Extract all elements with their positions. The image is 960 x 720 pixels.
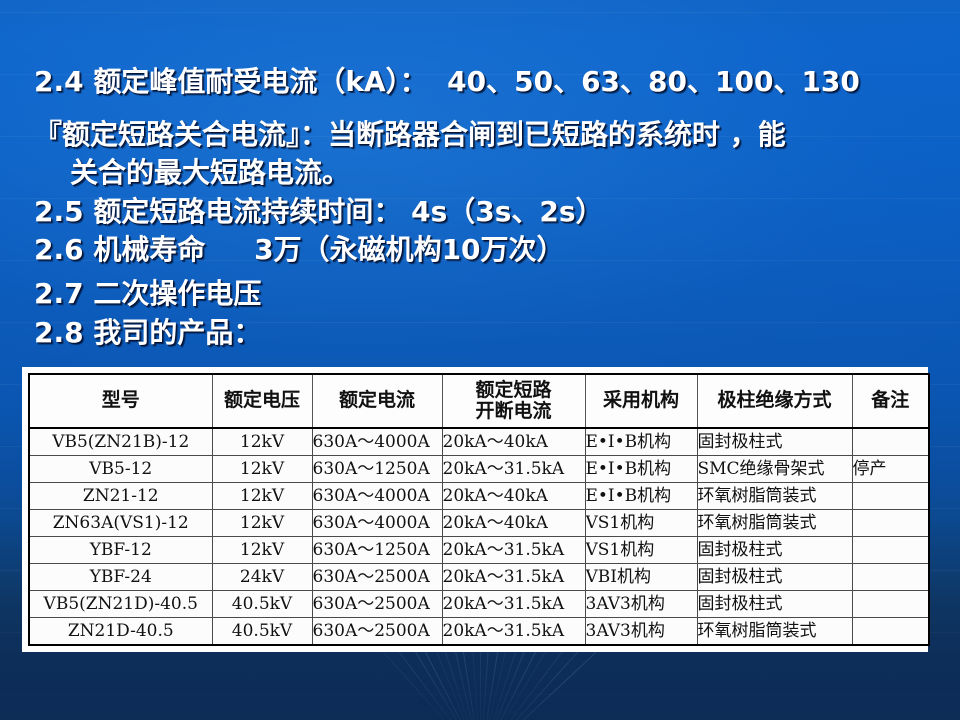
cell-mechanism: VS1机构 (585, 537, 697, 564)
cell-remark (852, 510, 929, 537)
cell-remark (852, 537, 929, 564)
cell-breaking-current: 20kA～31.5kA (442, 618, 585, 646)
column-header-rated-current: 额定电流 (312, 374, 442, 428)
cell-pole-insulation: 环氧树脂筒装式 (697, 618, 852, 646)
table-header-row: 型号 额定电压 额定电流 额定短路开断电流 采用机构 极柱绝缘方式 备注 (29, 374, 929, 428)
cell-breaking-current: 20kA～40kA (442, 483, 585, 510)
cell-remark (852, 618, 929, 646)
bullet-mechanical-life: 2.6 机械寿命 3万（永磁机构10万次） (34, 228, 565, 268)
cell-pole-insulation: 固封极柱式 (697, 591, 852, 618)
cell-rated-voltage: 40.5kV (212, 591, 312, 618)
note-rated-short-circuit-making-current-line1: 『额定短路关合电流』：当断路器合闸到已短路的系统时 ，能 (34, 113, 786, 153)
cell-mechanism: E•I•B机构 (585, 428, 697, 456)
cell-rated-voltage: 12kV (212, 537, 312, 564)
table-row: ZN63A(VS1)-1212kV630A～4000A20kA～40kAVS1机… (29, 510, 929, 537)
table-row: YBF-1212kV630A～1250A20kA～31.5kAVS1机构固封极柱… (29, 537, 929, 564)
cell-model: VB5-12 (29, 456, 212, 483)
cell-rated-voltage: 24kV (212, 564, 312, 591)
table-row: VB5(ZN21B)-1212kV630A～4000A20kA～40kAE•I•… (29, 428, 929, 456)
cell-pole-insulation: 固封极柱式 (697, 537, 852, 564)
cell-breaking-current: 20kA～31.5kA (442, 456, 585, 483)
column-header-pole-insulation: 极柱绝缘方式 (697, 374, 852, 428)
bullet-short-circuit-duration: 2.5 额定短路电流持续时间： 4s（3s、2s） (34, 190, 604, 230)
cell-mechanism: VS1机构 (585, 510, 697, 537)
cell-breaking-current: 20kA～40kA (442, 510, 585, 537)
cell-rated-current: 630A～1250A (312, 537, 442, 564)
table-header: 型号 额定电压 额定电流 额定短路开断电流 采用机构 极柱绝缘方式 备注 (29, 374, 929, 428)
column-header-model: 型号 (29, 374, 212, 428)
cell-breaking-current: 20kA～31.5kA (442, 537, 585, 564)
cell-model: YBF-12 (29, 537, 212, 564)
bullet-rated-peak-withstand-current: 2.4 额定峰值耐受电流（kA）： 40、50、63、80、100、130 (34, 60, 860, 100)
column-header-remark: 备注 (852, 374, 929, 428)
cell-mechanism: VBI机构 (585, 564, 697, 591)
cell-mechanism: E•I•B机构 (585, 483, 697, 510)
table-body: VB5(ZN21B)-1212kV630A～4000A20kA～40kAE•I•… (29, 428, 929, 645)
cell-model: ZN21-12 (29, 483, 212, 510)
column-header-mechanism: 采用机构 (585, 374, 697, 428)
cell-model: ZN21D-40.5 (29, 618, 212, 646)
bullet-our-products: 2.8 我司的产品： (34, 311, 261, 351)
cell-pole-insulation: 环氧树脂筒装式 (697, 510, 852, 537)
bullet-secondary-operating-voltage: 2.7 二次操作电压 (34, 272, 261, 312)
cell-rated-current: 630A～4000A (312, 510, 442, 537)
cell-rated-current: 630A～2500A (312, 564, 442, 591)
cell-breaking-current: 20kA～31.5kA (442, 564, 585, 591)
cell-rated-current: 630A～2500A (312, 591, 442, 618)
product-spec-table: 型号 额定电压 额定电流 额定短路开断电流 采用机构 极柱绝缘方式 备注 VB5… (28, 373, 930, 646)
cell-pole-insulation: 环氧树脂筒装式 (697, 483, 852, 510)
cell-rated-current: 630A～1250A (312, 456, 442, 483)
cell-rated-voltage: 12kV (212, 483, 312, 510)
table-row: VB5(ZN21D)-40.540.5kV630A～2500A20kA～31.5… (29, 591, 929, 618)
table-row: VB5-1212kV630A～1250A20kA～31.5kAE•I•B机构SM… (29, 456, 929, 483)
cell-rated-voltage: 12kV (212, 456, 312, 483)
cell-mechanism: 3AV3机构 (585, 618, 697, 646)
cell-rated-current: 630A～2500A (312, 618, 442, 646)
cell-model: VB5(ZN21B)-12 (29, 428, 212, 456)
cell-remark (852, 564, 929, 591)
cell-breaking-current: 20kA～31.5kA (442, 591, 585, 618)
table-row: ZN21-1212kV630A～4000A20kA～40kAE•I•B机构环氧树… (29, 483, 929, 510)
cell-breaking-current: 20kA～40kA (442, 428, 585, 456)
cell-rated-voltage: 40.5kV (212, 618, 312, 646)
cell-mechanism: 3AV3机构 (585, 591, 697, 618)
cell-rated-current: 630A～4000A (312, 483, 442, 510)
cell-rated-voltage: 12kV (212, 510, 312, 537)
cell-rated-current: 630A～4000A (312, 428, 442, 456)
cell-pole-insulation: 固封极柱式 (697, 564, 852, 591)
cell-remark: 停产 (852, 456, 929, 483)
note-rated-short-circuit-making-current-line2: 关合的最大短路电流。 (70, 151, 350, 191)
column-header-breaking-current: 额定短路开断电流 (442, 374, 585, 428)
product-spec-table-frame: 型号 额定电压 额定电流 额定短路开断电流 采用机构 极柱绝缘方式 备注 VB5… (22, 367, 928, 652)
cell-pole-insulation: SMC绝缘骨架式 (697, 456, 852, 483)
table-row: YBF-2424kV630A～2500A20kA～31.5kAVBI机构固封极柱… (29, 564, 929, 591)
cell-pole-insulation: 固封极柱式 (697, 428, 852, 456)
cell-model: YBF-24 (29, 564, 212, 591)
table-row: ZN21D-40.540.5kV630A～2500A20kA～31.5kA3AV… (29, 618, 929, 646)
column-header-rated-voltage: 额定电压 (212, 374, 312, 428)
cell-model: VB5(ZN21D)-40.5 (29, 591, 212, 618)
cell-remark (852, 591, 929, 618)
cell-remark (852, 428, 929, 456)
cell-mechanism: E•I•B机构 (585, 456, 697, 483)
cell-model: ZN63A(VS1)-12 (29, 510, 212, 537)
cell-rated-voltage: 12kV (212, 428, 312, 456)
presentation-slide: 2.4 额定峰值耐受电流（kA）： 40、50、63、80、100、130 『额… (0, 0, 960, 720)
cell-remark (852, 483, 929, 510)
